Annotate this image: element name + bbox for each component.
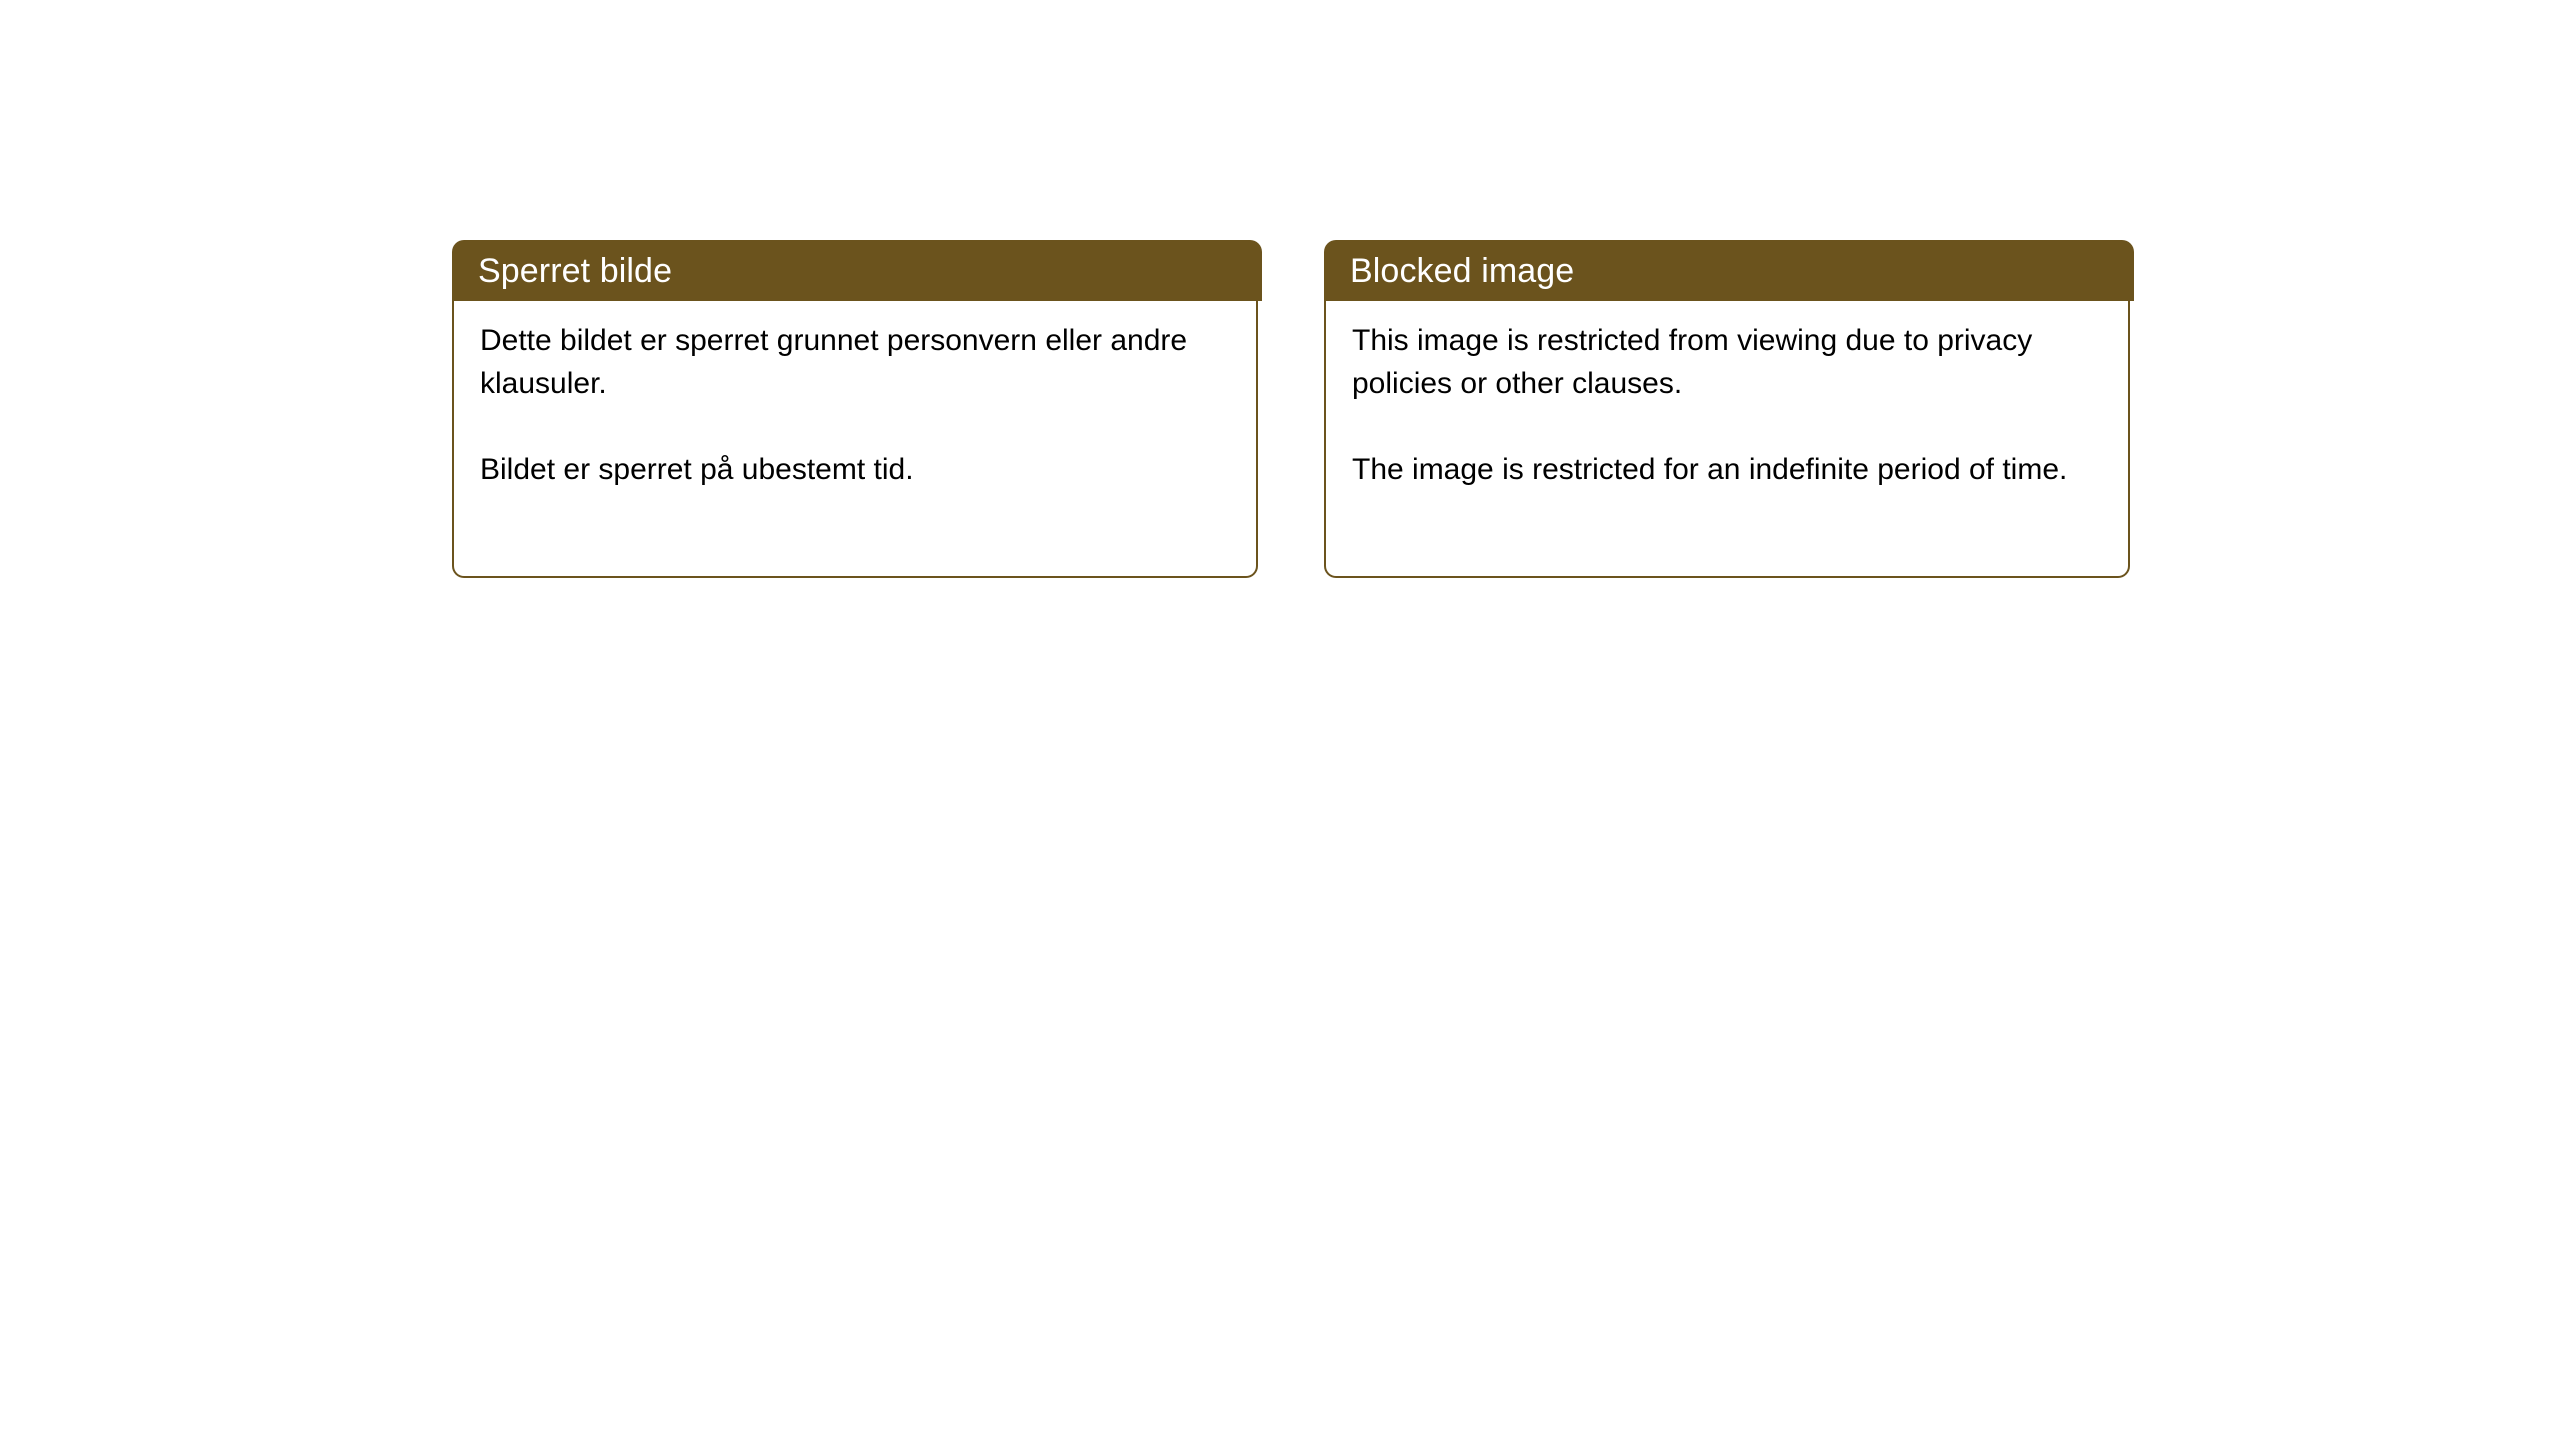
notice-body-no: Dette bildet er sperret grunnet personve… xyxy=(452,301,1258,578)
blocked-image-notice-en: Blocked image This image is restricted f… xyxy=(1324,240,2134,578)
blocked-image-notice-no: Sperret bilde Dette bildet er sperret gr… xyxy=(452,240,1262,578)
notice-body-en: This image is restricted from viewing du… xyxy=(1324,301,2130,578)
notice-title-no: Sperret bilde xyxy=(478,254,672,288)
blocked-image-notice-group: Sperret bilde Dette bildet er sperret gr… xyxy=(452,240,2134,578)
page-root: Sperret bilde Dette bildet er sperret gr… xyxy=(0,0,2560,1440)
notice-header-en: Blocked image xyxy=(1324,240,2134,301)
notice-paragraph-duration-no: Bildet er sperret på ubestemt tid. xyxy=(480,448,1232,491)
notice-title-en: Blocked image xyxy=(1350,254,1574,288)
notice-header-no: Sperret bilde xyxy=(452,240,1262,301)
notice-paragraph-reason-no: Dette bildet er sperret grunnet personve… xyxy=(480,319,1232,405)
notice-paragraph-duration-en: The image is restricted for an indefinit… xyxy=(1352,448,2104,491)
notice-paragraph-reason-en: This image is restricted from viewing du… xyxy=(1352,319,2104,405)
